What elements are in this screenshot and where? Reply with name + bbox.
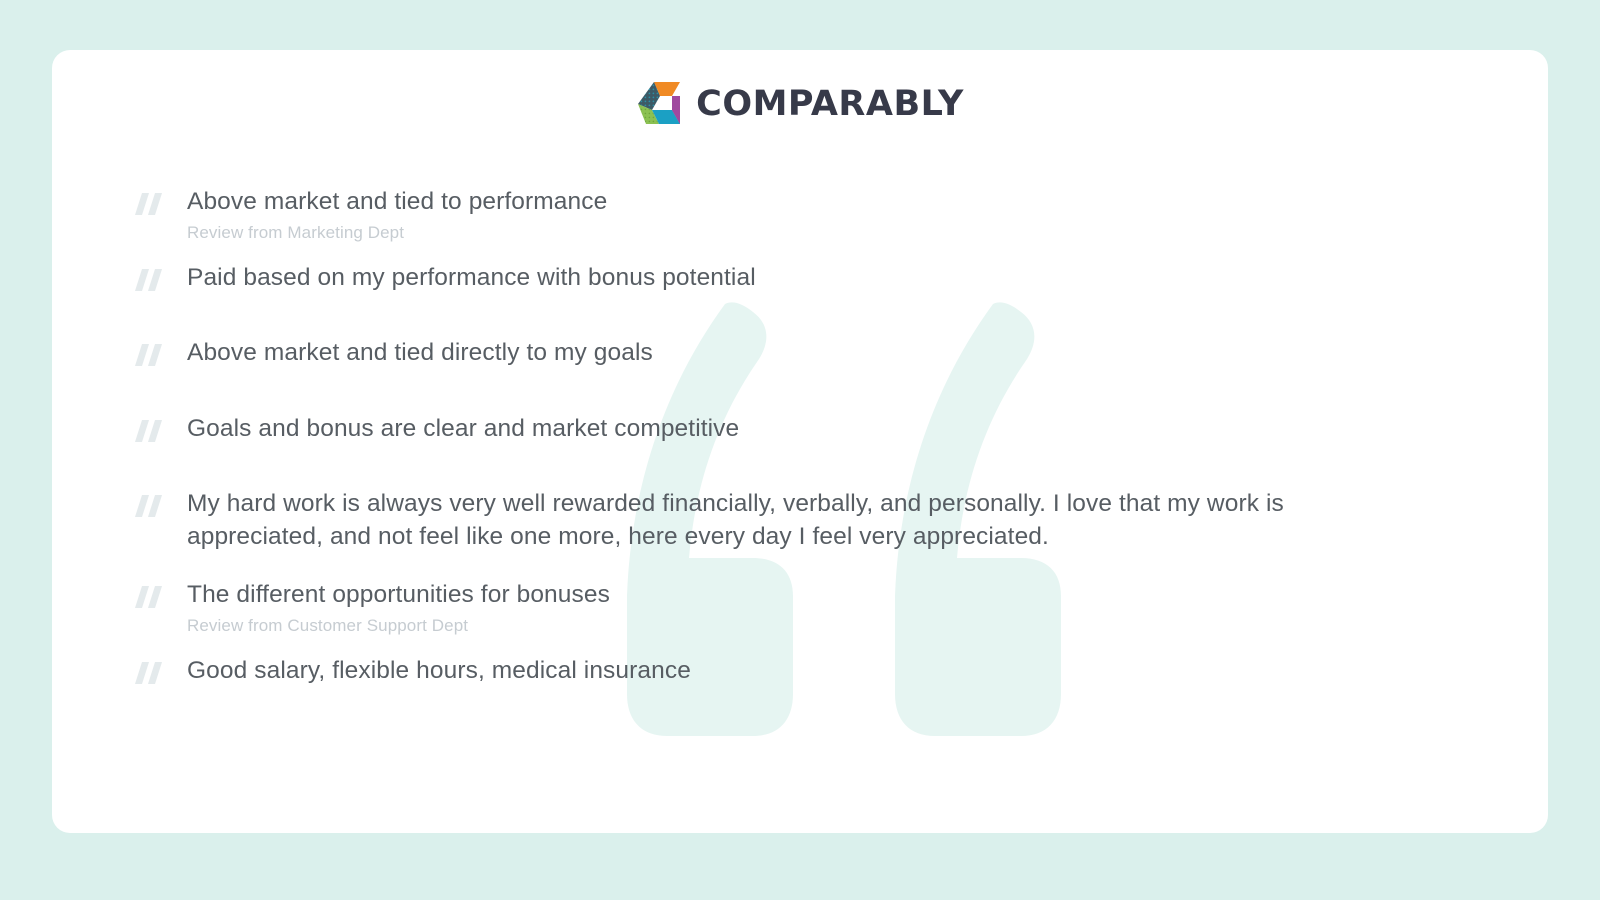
reviews-list: Above market and tied to performance Rev… xyxy=(135,185,1508,687)
list-item: Goals and bonus are clear and market com… xyxy=(135,412,1508,445)
comparably-logo-icon xyxy=(636,80,682,128)
review-text: My hard work is always very well rewarde… xyxy=(187,487,1377,554)
review-source: Review from Marketing Dept xyxy=(187,221,1508,245)
quote-mark-icon xyxy=(135,344,165,366)
page-root: COMPARABLY Above market and tied to perf… xyxy=(0,0,1600,900)
list-item: My hard work is always very well rewarde… xyxy=(135,487,1508,554)
review-text: Above market and tied directly to my goa… xyxy=(187,336,1377,369)
quote-mark-icon xyxy=(135,420,165,442)
list-item: Paid based on my performance with bonus … xyxy=(135,261,1508,294)
quote-mark-icon xyxy=(135,193,165,215)
review-text: Paid based on my performance with bonus … xyxy=(187,261,1377,294)
quote-mark-icon xyxy=(135,586,165,608)
quote-mark-icon xyxy=(135,269,165,291)
quote-mark-icon xyxy=(135,495,165,517)
quote-mark-icon xyxy=(135,662,165,684)
review-text: Above market and tied to performance xyxy=(187,185,1377,218)
brand-wordmark: COMPARABLY xyxy=(696,87,964,122)
review-text: The different opportunities for bonuses xyxy=(187,578,1377,611)
list-item: Good salary, flexible hours, medical ins… xyxy=(135,654,1508,687)
reviews-card: COMPARABLY Above market and tied to perf… xyxy=(52,50,1548,833)
review-text: Good salary, flexible hours, medical ins… xyxy=(187,654,1377,687)
review-text: Goals and bonus are clear and market com… xyxy=(187,412,1377,445)
list-item: Above market and tied directly to my goa… xyxy=(135,336,1508,369)
list-item: Above market and tied to performance Rev… xyxy=(135,185,1508,245)
brand-header: COMPARABLY xyxy=(52,80,1548,128)
review-source: Review from Customer Support Dept xyxy=(187,614,1508,638)
list-item: The different opportunities for bonuses … xyxy=(135,578,1508,638)
